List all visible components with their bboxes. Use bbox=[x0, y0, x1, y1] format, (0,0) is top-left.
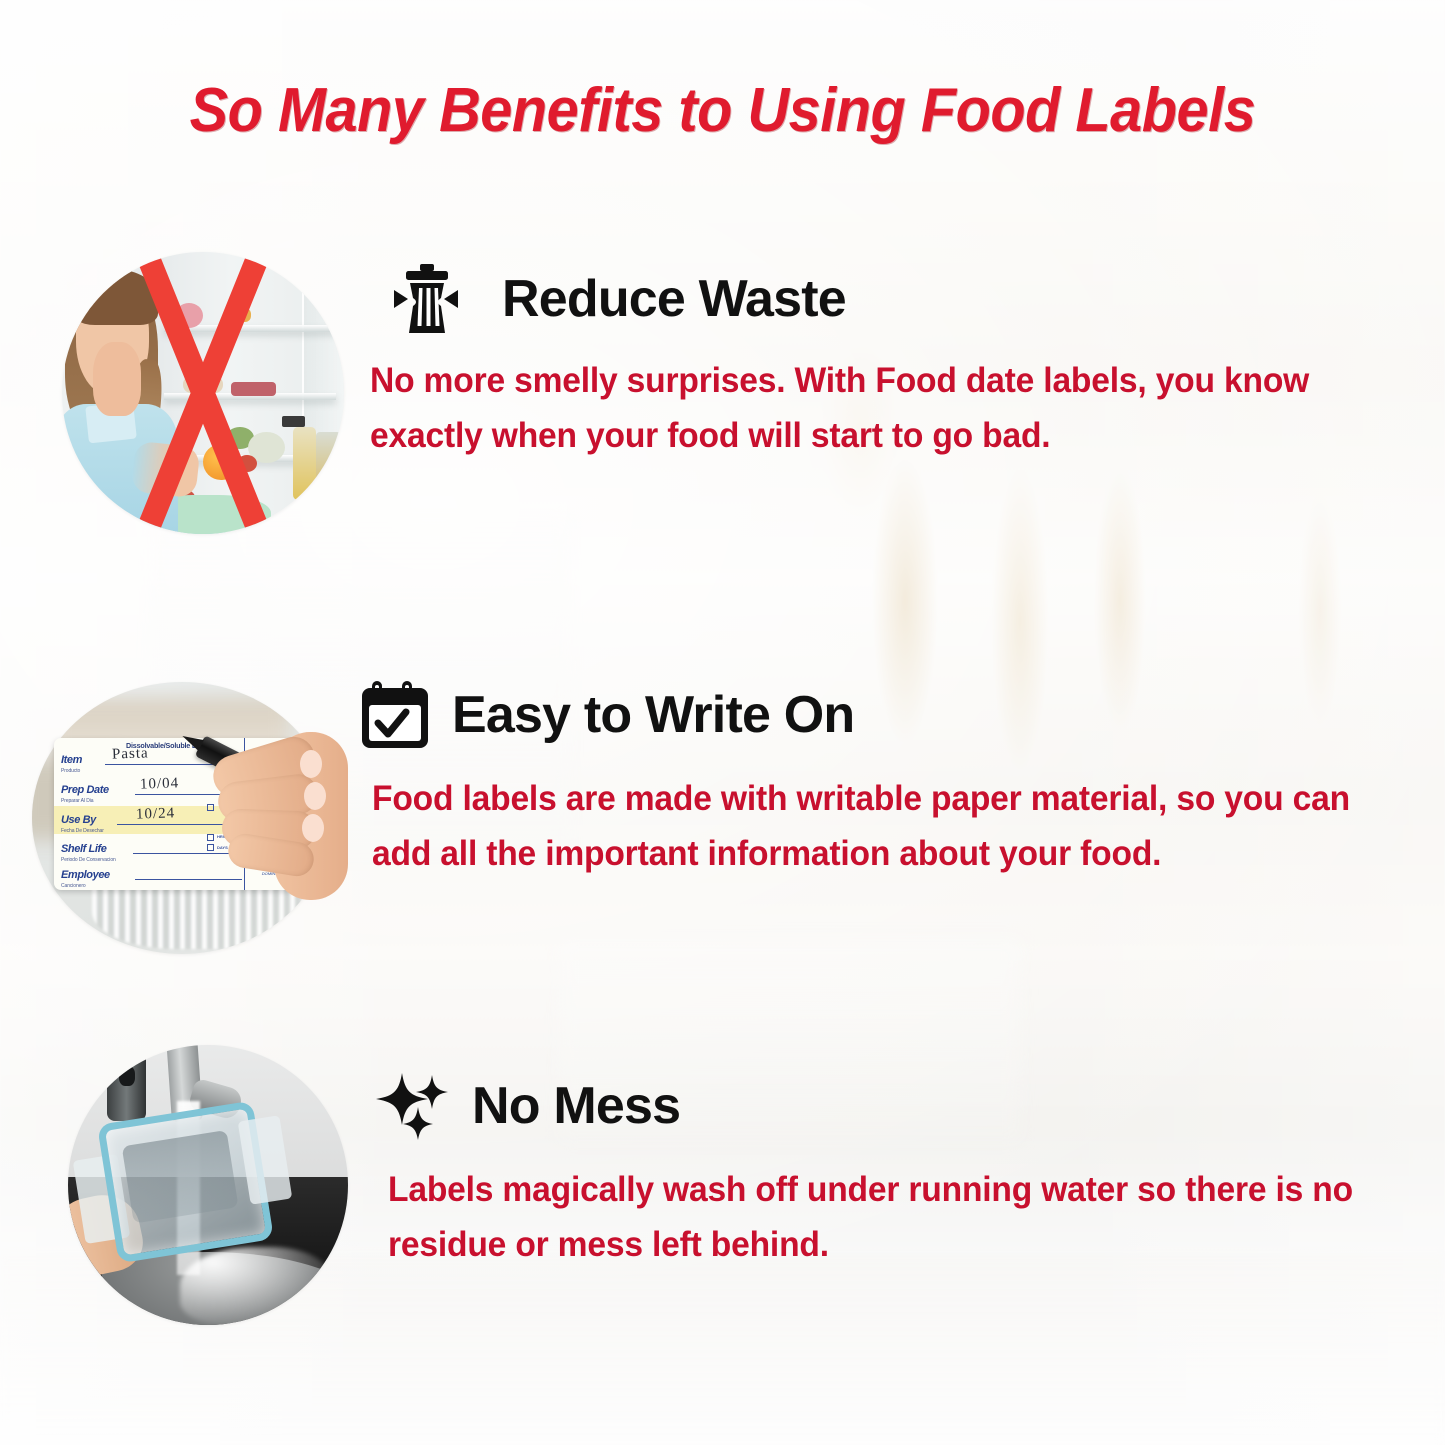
calendar-check-icon bbox=[358, 678, 432, 752]
label-handwritten-prep-date: 10/04 bbox=[140, 775, 180, 793]
hand-pinching-nose bbox=[93, 342, 141, 415]
benefit-photo-wrap bbox=[0, 242, 344, 534]
benefit-row-easy-to-write-on: Dissolvable/Soluble Label Item Producto … bbox=[0, 668, 1412, 954]
infographic-poster: So Many Benefits to Using Food Labels bbox=[0, 0, 1445, 1445]
fridge-control-label bbox=[282, 416, 305, 427]
woman-smelling-spoiled-food-in-fridge-photo bbox=[62, 252, 344, 534]
benefit-body-text: Food labels are made with writable paper… bbox=[372, 772, 1370, 881]
label-field-name: Shelf Life bbox=[61, 843, 107, 855]
benefit-row-reduce-waste: Reduce Waste No more smelly surprises. W… bbox=[0, 242, 1445, 534]
hand-holding-pen bbox=[208, 716, 336, 886]
benefit-heading-line: No Mess bbox=[374, 1063, 1398, 1149]
benefit-photo-wrap: Dissolvable/Soluble Label Item Producto … bbox=[0, 668, 332, 954]
container-rinsed-under-faucet-photo bbox=[68, 1045, 348, 1325]
benefit-photo-wrap bbox=[0, 1035, 348, 1325]
label-field-name: Prep Date bbox=[61, 784, 109, 796]
sink-scene bbox=[68, 1045, 348, 1325]
food-item-oil-bottle bbox=[293, 427, 316, 500]
food-item-orange bbox=[203, 444, 240, 481]
hand-writing-on-food-label-photo: Dissolvable/Soluble Label Item Producto … bbox=[32, 682, 332, 954]
label-handwritten-item: Pasta bbox=[112, 745, 149, 763]
benefit-heading: Reduce Waste bbox=[502, 273, 846, 325]
benefit-body-text: Labels magically wash off under running … bbox=[388, 1163, 1358, 1272]
label-handwritten-use-by: 10/24 bbox=[136, 805, 176, 823]
fingernail bbox=[302, 814, 324, 842]
benefit-heading: Easy to Write On bbox=[452, 689, 854, 741]
benefit-heading: No Mess bbox=[472, 1080, 680, 1132]
label-field-name: Employee bbox=[61, 869, 110, 881]
food-item-jar bbox=[316, 432, 341, 500]
benefit-text-column: Reduce Waste No more smelly surprises. W… bbox=[344, 242, 1445, 463]
fingernail bbox=[304, 782, 326, 810]
fingernail bbox=[300, 750, 322, 778]
woman-figure bbox=[62, 258, 192, 534]
label-field-name: Use By bbox=[61, 814, 96, 826]
benefit-row-no-mess: No Mess Labels magically wash off under … bbox=[0, 1035, 1398, 1325]
benefit-heading-line: Reduce Waste bbox=[370, 256, 1445, 342]
food-item-meat bbox=[231, 382, 276, 396]
benefit-text-column: No Mess Labels magically wash off under … bbox=[348, 1035, 1398, 1272]
page-title: So Many Benefits to Using Food Labels bbox=[51, 78, 1395, 143]
sparkles-icon bbox=[374, 1069, 452, 1143]
label-field-name: Item bbox=[61, 754, 82, 766]
trash-can-reduce-icon bbox=[370, 262, 482, 336]
benefit-text-column: Easy to Write On Food labels are made wi… bbox=[332, 668, 1412, 881]
faucet-handle bbox=[107, 1051, 146, 1121]
benefit-heading-line: Easy to Write On bbox=[358, 672, 1412, 758]
hair-front bbox=[68, 269, 158, 325]
food-item-pepper bbox=[226, 308, 251, 322]
food-item-tomato bbox=[237, 455, 257, 472]
arm-reaching bbox=[130, 440, 200, 497]
benefit-body-text: No more smelly surprises. With Food date… bbox=[370, 354, 1402, 463]
